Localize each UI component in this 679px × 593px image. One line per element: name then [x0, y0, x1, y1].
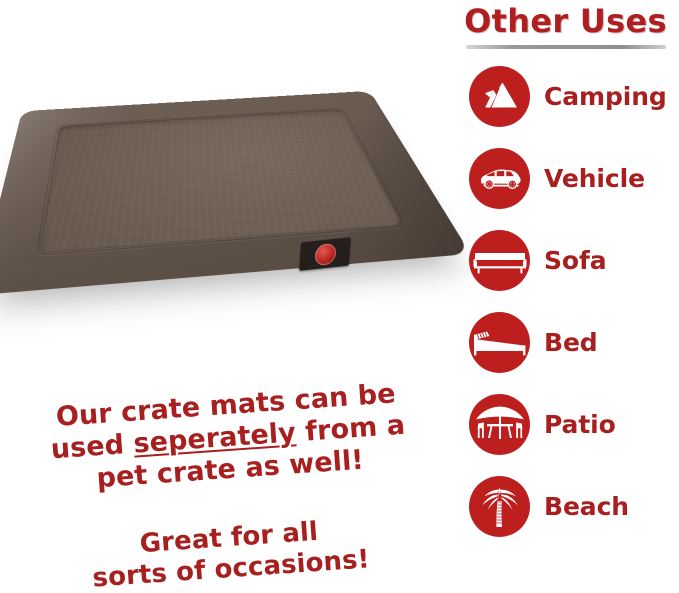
crate-mat	[0, 58, 440, 293]
title-divider	[466, 45, 666, 49]
brand-emblem-icon	[314, 242, 336, 265]
use-item-vehicle: Vehicle	[469, 142, 679, 214]
palm-tree-icon	[469, 476, 530, 537]
use-item-patio: Patio	[469, 388, 679, 460]
use-item-bed: Bed	[469, 306, 679, 378]
use-item-sofa: Sofa	[469, 224, 679, 296]
marketing-image: Our crate mats can be used seperately fr…	[0, 0, 679, 593]
other-uses-list: Camping	[452, 60, 679, 542]
patio-umbrella-icon	[469, 394, 530, 455]
other-uses-panel: Other Uses Camping	[452, 0, 679, 593]
mat-quilted-panel	[40, 109, 403, 254]
use-item-camping: Camping	[469, 60, 679, 132]
mat-bolster-border	[0, 91, 471, 295]
other-uses-title: Other Uses	[452, 2, 679, 40]
tent-icon	[469, 66, 530, 127]
slogan-primary-line2-post: from a	[295, 410, 406, 449]
product-photo	[0, 58, 440, 293]
use-label-patio: Patio	[544, 410, 616, 439]
use-label-vehicle: Vehicle	[544, 164, 645, 193]
slogan-primary-line2-pre: used	[50, 428, 135, 465]
sofa-icon	[469, 230, 530, 291]
slogan-primary: Our crate mats can be used seperately fr…	[25, 376, 431, 499]
use-item-beach: Beach	[469, 470, 679, 542]
use-label-bed: Bed	[544, 328, 598, 357]
car-icon	[469, 148, 530, 209]
use-label-beach: Beach	[544, 492, 629, 521]
brand-logo-tag	[299, 237, 351, 271]
use-label-sofa: Sofa	[544, 246, 607, 275]
slogan-secondary: Great for all sorts of occasions!	[68, 512, 391, 593]
use-label-camping: Camping	[544, 82, 667, 111]
bed-icon	[469, 312, 530, 373]
